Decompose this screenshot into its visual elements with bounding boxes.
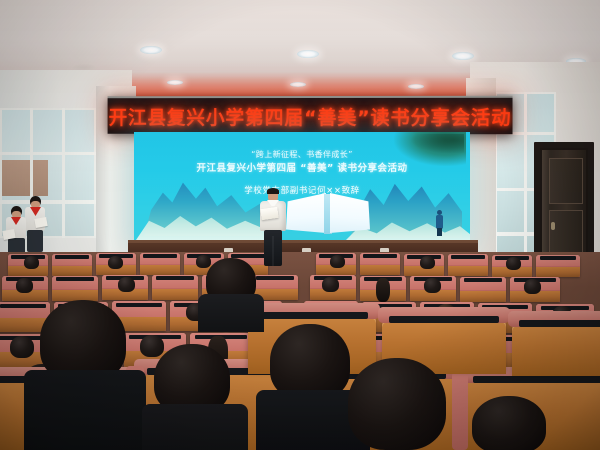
audience-head (506, 257, 521, 270)
seat[interactable] (52, 276, 98, 301)
audience-head (330, 255, 345, 268)
ceiling-light (297, 50, 319, 58)
seat[interactable] (448, 254, 488, 276)
speech-papers (260, 207, 278, 220)
ceiling-light (452, 52, 474, 60)
speaker-presenter (258, 188, 288, 266)
audience-head (24, 256, 39, 269)
projection-screen: “跨上新征程、书香伴成长” 开江县复兴小学第四届 “善美” 读书分享会活动 学校… (134, 132, 470, 242)
auditorium-photo: 开江县复兴小学第四届“善美”读书分享会活动 “跨上新征程、书香伴成长” 开江县复… (0, 0, 600, 450)
audience-head (118, 277, 135, 292)
screen-title: 开江县复兴小学第四届 “善美” 读书分享会活动 (134, 160, 470, 174)
audience-head (108, 256, 123, 269)
audience-head (322, 277, 339, 292)
audience-ponytail (376, 278, 390, 302)
speaker-trousers (264, 230, 282, 266)
audience-head (524, 279, 541, 294)
foreground-person (198, 252, 264, 328)
screen-slogan: “跨上新征程、书香伴成长” (134, 149, 470, 160)
audience-head (420, 256, 435, 269)
open-book-graphic (286, 190, 370, 234)
seat[interactable] (140, 253, 180, 275)
ceiling-light (140, 46, 162, 54)
ceiling-light (290, 82, 306, 87)
seat[interactable] (536, 255, 580, 277)
foreground-person (338, 358, 458, 450)
speaker-hair (267, 188, 279, 194)
foreground-person (466, 396, 556, 450)
foreground-person (30, 300, 140, 450)
led-banner: 开江县复兴小学第四届“善美”读书分享会活动 (108, 96, 513, 134)
seat[interactable] (52, 254, 92, 276)
midground-seat[interactable] (512, 324, 600, 376)
seat[interactable] (152, 275, 198, 300)
ceiling-light (408, 84, 424, 89)
door-knob-icon[interactable] (551, 222, 555, 230)
audience-head (16, 278, 33, 293)
led-banner-text: 开江县复兴小学第四届“善美”读书分享会活动 (109, 102, 512, 129)
projection-screen-content: “跨上新征程、书香伴成长” 开江县复兴小学第四届 “善美” 读书分享会活动 学校… (134, 132, 470, 242)
ceiling-light (167, 80, 183, 85)
reader-figure-graphic (435, 210, 444, 236)
foreground-person (146, 344, 242, 450)
seat[interactable] (360, 253, 400, 275)
window-outside-view (2, 160, 48, 196)
seat[interactable] (460, 277, 506, 302)
audience-head (424, 278, 441, 293)
screen-speaker-caption: 学校党支部副书记何××致辞 (134, 184, 470, 196)
